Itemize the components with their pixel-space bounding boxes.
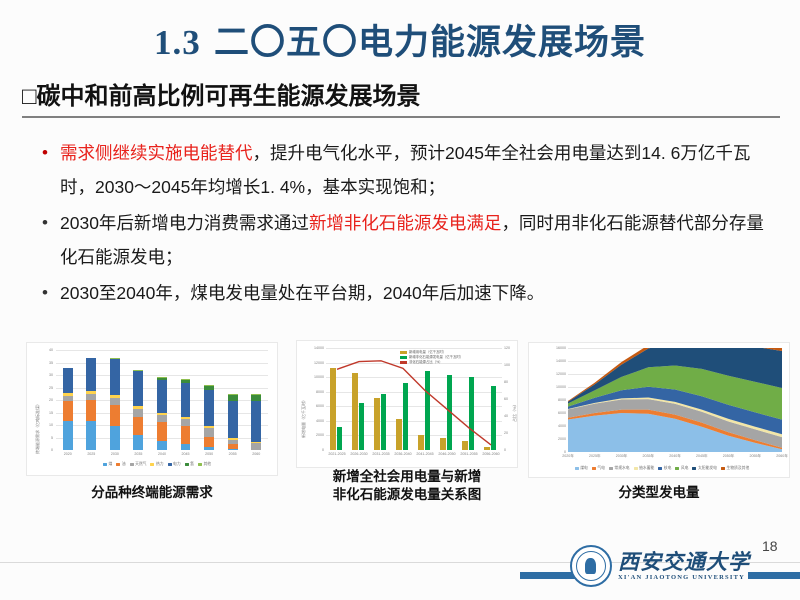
chart-3-xtick: 2020年: [555, 454, 582, 459]
chart-1-legend-item: 油: [116, 462, 125, 467]
chart-2-ytick-left: 6000: [304, 404, 324, 408]
chart-3-legend-label: 风电: [681, 466, 689, 471]
subtitle-marker-icon: □: [22, 83, 37, 110]
chart-1-bar-segment: [181, 426, 191, 445]
chart-3-plot: [568, 348, 782, 452]
chart-3-legend-item: 太阳能发电: [692, 466, 716, 471]
chart-1-xtick: 2030: [103, 452, 127, 456]
chart-2-ytick-left: 4000: [304, 419, 324, 423]
chart-1-ytick: 40: [38, 348, 53, 352]
chart-2-legend-swatch: [400, 356, 407, 359]
chart-1-bar-segment: [251, 394, 261, 401]
chart-1-bar-segment: [110, 359, 120, 396]
chart-1-bar-segment: [157, 413, 167, 416]
chart-1-bar-segment: [251, 443, 261, 450]
chart-1-bar-segment: [63, 401, 73, 422]
chart-1-bar-segment: [63, 396, 73, 401]
chart-1-bar: [157, 350, 167, 450]
chart-3-legend-label: 核电: [664, 466, 672, 471]
chart-1-legend-swatch: [185, 463, 189, 466]
chart-1-bar-segment: [204, 426, 214, 428]
chart-2-ytick-left: 8000: [304, 390, 324, 394]
chart-1-bar-segment: [228, 449, 238, 451]
chart-1-bar-segment: [86, 421, 96, 450]
chart-3-ytick: 4000: [544, 424, 566, 428]
chart-1-bar-segment: [181, 417, 191, 420]
chart-3-caption: 分类型发电量: [528, 484, 790, 502]
chart-1-bar-segment: [110, 398, 120, 405]
chart-1-bar-segment: [228, 395, 238, 401]
chart-1-bar-segment: [157, 441, 167, 450]
chart-1-bar: [133, 350, 143, 450]
chart-1-bar-segment: [86, 391, 96, 394]
subtitle-text: 碳中和前高比例可再生能源发展场景: [37, 83, 421, 110]
chart-1-ytick: 20: [38, 398, 53, 402]
chart-1-legend-item: 电力: [168, 462, 181, 467]
chart-2: 新增电量（亿千瓦时） 占比（%） 02000400060008000100001…: [296, 340, 518, 480]
chart-3-area-series: [568, 348, 782, 452]
chart-3-legend-swatch: [592, 467, 596, 470]
chart-1-bar-segment: [110, 358, 120, 359]
chart-1-bar-segment: [157, 380, 167, 413]
chart-3-legend-item: 气电: [592, 466, 605, 471]
chart-1-legend-item: 天然气: [130, 462, 147, 467]
chart-1-bar-segment: [86, 400, 96, 422]
chart-1-bar-segment: [228, 438, 238, 440]
chart-1-bar-segment: [110, 358, 120, 359]
chart-3-xtick: 2055年: [742, 454, 769, 459]
chart-1-legend-item: 热力: [150, 462, 163, 467]
chart-1-bar-segment: [181, 383, 191, 417]
chart-2-ytick-right: 40: [504, 414, 514, 418]
chart-3-legend-label: 常规水电: [614, 466, 629, 471]
subtitle-divider: [22, 116, 780, 118]
chart-1-ytick: 10: [38, 423, 53, 427]
chart-1-bar-segment: [86, 394, 96, 400]
chart-1-ytick: 5: [38, 436, 53, 440]
chart-2-ytick-right: 0: [504, 448, 514, 452]
chart-1: 终端能源需求（亿吨标准煤） 0510152025303540 202020252…: [26, 342, 278, 482]
chart-3-xtick: 2040年: [662, 454, 689, 459]
chart-1-xtick: 2060: [244, 452, 268, 456]
chart-3: 0200040006000800010000120001400016000 20…: [528, 342, 790, 482]
chart-1-legend-label: 煤: [108, 462, 112, 467]
chart-2-xtick: 2036-2040: [392, 452, 414, 456]
chart-1-ytick: 0: [38, 448, 53, 452]
bullet-text-highlight: 需求侧继续实施电能替代: [60, 143, 253, 163]
chart-1-plot: [56, 350, 268, 450]
chart-1-legend-label: 其他: [203, 462, 211, 467]
chart-3-legend-swatch: [609, 467, 613, 470]
chart-1-legend-item: 其他: [198, 462, 211, 467]
bullet-item: •2030至2040年，煤电发电量处在平台期，2040年后加速下降。: [38, 276, 774, 310]
chart-3-legend-swatch: [634, 467, 638, 470]
chart-3-legend-label: 生物质及其他: [726, 466, 749, 471]
chart-1-xtick: 2045: [174, 452, 198, 456]
chart-1-legend-label: 热力: [156, 462, 164, 467]
chart-1-bar-segment: [181, 444, 191, 450]
chart-3-ytick: 16000: [544, 346, 566, 350]
chart-1-legend-item: 氢: [185, 462, 194, 467]
chart-1-ytick: 15: [38, 411, 53, 415]
chart-3-legend-label: 太阳能发电: [698, 466, 717, 471]
chart-1-bar: [251, 350, 261, 450]
chart-1-bar-segment: [157, 377, 167, 378]
chart-1-bar-segment: [204, 437, 214, 448]
chart-2-xtick: 2051-2055: [458, 452, 480, 456]
logo-chinese-name: 西安交通大学: [618, 551, 750, 573]
chart-1-bar-segment: [157, 377, 167, 380]
chart-2-ytick-right: 100: [504, 363, 514, 367]
chart-1-legend-item: 煤: [103, 462, 112, 467]
chart-1-bar-segment: [251, 450, 261, 451]
chart-1-bar-segment: [110, 405, 120, 426]
chart-1-bar-segment: [251, 442, 261, 443]
chart-1-bar-segment: [204, 386, 214, 391]
chart-1-bar-segment: [204, 428, 214, 437]
chart-2-legend-item: 非化石能源占比（%）: [400, 360, 504, 365]
chart-1-bar-segment: [110, 426, 120, 451]
chart-1-bar-segment: [251, 394, 261, 395]
chart-3-xtick: 2025年: [581, 454, 608, 459]
chart-1-legend-swatch: [198, 463, 202, 466]
chart-2-ytick-left: 10000: [304, 375, 324, 379]
chart-2-xtick: 2046-2050: [436, 452, 458, 456]
bullet-marker-icon: •: [42, 206, 48, 240]
chart-1-legend-label: 氢: [190, 462, 194, 467]
chart-2-ytick-left: 14000: [304, 346, 324, 350]
chart-1-bar-segment: [63, 393, 73, 397]
chart-3-legend-label: 抽水蓄能: [639, 466, 654, 471]
chart-2-xtick: 2056-2060: [480, 452, 502, 456]
chart-1-bar-segment: [133, 409, 143, 418]
chart-1-legend-swatch: [150, 463, 154, 466]
title-number: 1.3: [154, 23, 201, 62]
chart-3-legend-label: 气电: [597, 466, 605, 471]
chart-2-xtick: 2026-2030: [348, 452, 370, 456]
chart-2-xtick: 2041-2045: [414, 452, 436, 456]
chart-2-legend-label: 非化石能源占比（%）: [409, 360, 443, 365]
bullet-item: •需求侧继续实施电能替代，提升电气化水平，预计2045年全社会用电量达到14. …: [38, 136, 774, 204]
chart-3-legend-item: 生物质及其他: [721, 466, 749, 471]
chart-1-bar-segment: [181, 419, 191, 426]
chart-1-bar-segment: [204, 447, 214, 450]
bullet-item: •2030年后新增电力消费需求通过新增非化石能源发电满足，同时用非化石能源替代部…: [38, 206, 774, 274]
chart-1-legend-label: 天然气: [135, 462, 146, 467]
chart-2-ytick-left: 12000: [304, 361, 324, 365]
chart-3-ytick: 12000: [544, 372, 566, 376]
chart-1-xtick: 2025: [80, 452, 104, 456]
page-title: 1.3 二〇五〇电力能源发展场景: [0, 14, 800, 65]
chart-1-bar-segment: [157, 415, 167, 422]
chart-3-xtick: 2030年: [608, 454, 635, 459]
chart-1-ytick: 35: [38, 361, 53, 365]
chart-3-legend-item: 抽水蓄能: [634, 466, 655, 471]
chart-2-ytick-right: 80: [504, 380, 514, 384]
chart-1-bar-segment: [181, 379, 191, 380]
chart-3-ytick: 14000: [544, 359, 566, 363]
chart-1-bar-segment: [133, 370, 143, 371]
chart-2-caption-line1: 新增全社会用电量与新增: [296, 468, 518, 486]
chart-1-bar-segment: [204, 390, 214, 426]
subtitle-block: □碳中和前高比例可再生能源发展场景: [22, 76, 782, 118]
chart-1-bar-segment: [63, 368, 73, 393]
chart-2-legend: 新增用电量（亿千瓦时）新增非化石能源发电量（亿千瓦时）非化石能源占比（%）: [400, 350, 504, 365]
chart-1-bar-segment: [228, 444, 238, 449]
chart-1-bar: [181, 350, 191, 450]
chart-2-xtick: 2021-2025: [326, 452, 348, 456]
chart-2-ylabel-right: 占比（%）: [512, 402, 518, 422]
university-logo: 西安交通大学 XI'AN JIAOTONG UNIVERSITY: [570, 545, 750, 587]
chart-1-legend-label: 油: [122, 462, 126, 467]
slide-root: 1.3 二〇五〇电力能源发展场景 □碳中和前高比例可再生能源发展场景 •需求侧继…: [0, 0, 800, 600]
chart-3-ytick: 8000: [544, 398, 566, 402]
chart-1-bar-segment: [110, 395, 120, 398]
chart-1-bar: [228, 350, 238, 450]
logo-english-name: XI'AN JIAOTONG UNIVERSITY: [618, 574, 750, 581]
chart-3-legend-item: 核电: [658, 466, 671, 471]
chart-1-xtick: 2020: [56, 452, 80, 456]
chart-3-legend-item: 风电: [675, 466, 688, 471]
chart-3-ytick: 2000: [544, 437, 566, 441]
chart-1-bar: [86, 350, 96, 450]
bullet-text-highlight: 新增非化石能源发电满足: [309, 213, 502, 233]
chart-2-ytick-right: 60: [504, 397, 514, 401]
chart-2-xtick: 2031-2035: [370, 452, 392, 456]
bullet-marker-icon: •: [42, 276, 48, 310]
chart-1-bar-segment: [133, 417, 143, 435]
chart-3-ytick: 10000: [544, 385, 566, 389]
chart-1-legend-swatch: [103, 463, 107, 466]
university-seal-icon: [570, 545, 612, 587]
chart-1-bar-segment: [133, 371, 143, 406]
bullet-marker-icon: •: [42, 136, 48, 170]
chart-1-ytick: 25: [38, 386, 53, 390]
chart-1-bar-segment: [86, 358, 96, 392]
chart-1-ytick: 30: [38, 373, 53, 377]
chart-3-legend-swatch: [658, 467, 662, 470]
charts-row: 终端能源需求（亿吨标准煤） 0510152025303540 202020252…: [0, 338, 800, 518]
chart-2-ytick-left: 2000: [304, 433, 324, 437]
chart-2-ytick-right: 120: [504, 346, 514, 350]
chart-1-legend-swatch: [116, 463, 120, 466]
chart-1-bar-segment: [251, 401, 261, 442]
chart-3-legend: 煤电气电常规水电抽水蓄能核电风电太阳能发电生物质及其他: [542, 466, 782, 471]
title-text: 二〇五〇电力能源发展场景: [214, 22, 646, 63]
chart-1-legend-label: 电力: [173, 462, 181, 467]
chart-1-bar-segment: [63, 421, 73, 450]
chart-1-xtick: 2055: [221, 452, 245, 456]
chart-1-bar-segment: [204, 385, 214, 386]
chart-1-bar-segment: [228, 394, 238, 395]
chart-1-caption: 分品种终端能源需求: [26, 484, 278, 502]
chart-1-legend-swatch: [130, 463, 134, 466]
chart-3-legend-swatch: [575, 467, 579, 470]
chart-3-xtick: 2035年: [635, 454, 662, 459]
bullet-text: 2030至2040年，煤电发电量处在平台期，2040年后加速下降。: [60, 283, 544, 303]
chart-3-xtick: 2045年: [688, 454, 715, 459]
chart-1-bar-segment: [228, 401, 238, 439]
chart-1-bar-segment: [133, 435, 143, 450]
chart-1-bar: [63, 350, 73, 450]
chart-2-legend-swatch: [400, 351, 407, 354]
footer-accent-bar-right: [748, 572, 800, 579]
chart-1-xtick: 2050: [197, 452, 221, 456]
chart-3-xtick: 2050年: [715, 454, 742, 459]
chart-3-legend-label: 煤电: [580, 466, 588, 471]
bullet-text: 2030年后新增电力消费需求通过: [60, 213, 309, 233]
chart-2-ytick-left: 0: [304, 448, 324, 452]
chart-3-legend-swatch: [721, 467, 725, 470]
chart-1-xtick: 2040: [150, 452, 174, 456]
chart-1-bar-segment: [228, 440, 238, 444]
chart-1-legend: 煤油天然气热力电力氢其他: [44, 462, 270, 467]
chart-2-ytick-right: 20: [504, 431, 514, 435]
chart-1-bar-segment: [181, 380, 191, 384]
chart-1-bar: [204, 350, 214, 450]
chart-1-bar-segment: [133, 370, 143, 371]
chart-3-xtick: 2060年: [769, 454, 796, 459]
chart-3-legend-swatch: [675, 467, 679, 470]
page-number: 18: [762, 538, 778, 554]
chart-1-bar: [110, 350, 120, 450]
logo-text-block: 西安交通大学 XI'AN JIAOTONG UNIVERSITY: [618, 551, 750, 581]
chart-1-bar-segment: [133, 406, 143, 409]
chart-3-legend-item: 煤电: [575, 466, 588, 471]
chart-3-legend-swatch: [692, 467, 696, 470]
chart-3-legend-item: 常规水电: [609, 466, 630, 471]
chart-3-ytick: 6000: [544, 411, 566, 415]
chart-1-bar-segment: [157, 422, 167, 441]
chart-2-caption-line2: 非化石能源发电量关系图: [296, 486, 518, 504]
chart-1-legend-swatch: [168, 463, 172, 466]
bullet-list: •需求侧继续实施电能替代，提升电气化水平，预计2045年全社会用电量达到14. …: [38, 136, 774, 312]
chart-1-xtick: 2035: [127, 452, 151, 456]
subtitle: □碳中和前高比例可再生能源发展场景: [22, 76, 782, 111]
chart-2-legend-swatch: [400, 361, 407, 364]
